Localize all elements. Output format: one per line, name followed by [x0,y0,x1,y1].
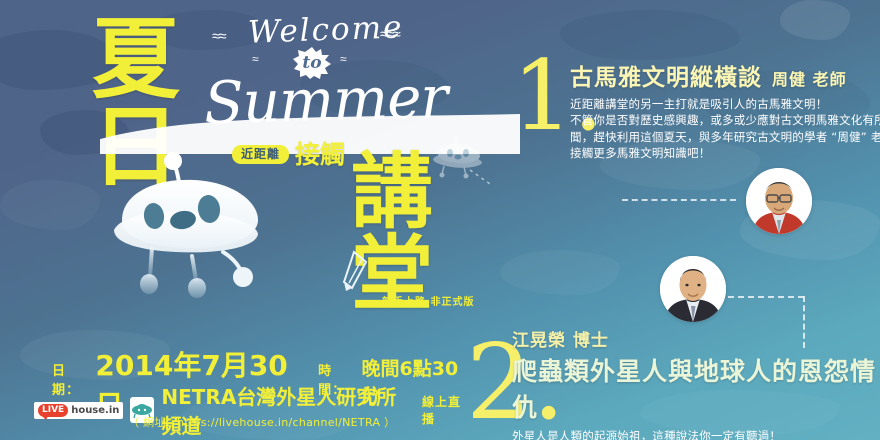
poster-right-column: 1. 2. 古馬雅文明縱橫談 周健 老師 近距離講堂的另一主打就是吸引人的古馬雅… [470,0,880,440]
version-note: 新手上路 非正式版 [382,293,474,308]
poster-canvas: 夏日 ≈≈ ≈≈≈ Welcome to ≈ ≈ Summer 近距離 接觸 [0,0,880,440]
speaker-photo-jianghuangrong[interactable] [660,256,726,322]
section-1-speaker: 周健 老師 [772,66,847,90]
section-1: 古馬雅文明縱橫談 周健 老師 近距離講堂的另一主打就是吸引人的古馬雅文明！ 不管… [570,58,878,161]
poster-left-column: 夏日 ≈≈ ≈≈≈ Welcome to ≈ ≈ Summer 近距離 接觸 [0,0,500,440]
speaker-photo-zhoujian[interactable] [746,168,812,234]
section-2-heading: 爬蟲類外星人與地球人的恩怨情仇 [512,352,880,424]
ufo-mascot-icon [106,148,356,323]
section-2-line: 外星人是人類的起源始祖，這種說法你一定有聽過！ [512,428,880,440]
livehouse-logo[interactable]: LIVE house.in [34,402,123,419]
section-2-title: 爬蟲類外星人與地球人的恩怨情仇 [512,352,880,424]
connector-line [728,296,804,298]
wave-icon: ≈ [340,52,345,66]
section-1-heading: 古馬雅文明縱橫談 周健 老師 [570,58,878,92]
welcome-text: Welcome [247,9,404,50]
section-2-body: 外星人是人類的起源始祖，這種說法你一定有聽過！ 更不用說你一定很好奇外星人究竟與… [512,428,880,440]
wave-icon: ≈≈ [212,28,224,45]
section-2: 江晃榮 博士 爬蟲類外星人與地球人的恩怨情仇 外星人是人類的起源始祖，這種說法你… [512,326,880,440]
section-1-line: 接觸更多馬雅文明知識吧！ [570,145,878,161]
pencil-icon [340,250,370,292]
channel-row: LIVE house.in NETRA台灣外星人研究所頻道 線上直播 [34,381,470,439]
channel-name: NETRA台灣外星人研究所頻道 [161,381,415,439]
section-1-line: 聞，趕快利用這個夏天，與多年研究古文明的學者 “周健” 老師 [570,129,878,145]
livehouse-wordmark: house.in [71,405,119,416]
section-1-body: 近距離講堂的另一主打就是吸引人的古馬雅文明！ 不管你是否對歷史感興趣，或多或少應… [570,96,878,161]
section-1-title: 古馬雅文明縱橫談 [570,58,762,92]
livehouse-live-badge: LIVE [38,404,68,417]
wave-icon: ≈ [252,52,257,66]
live-stream-tag: 線上直播 [422,393,470,427]
channel-url[interactable]: （ 網址：https://livehouse.in/channel/NETRA … [128,414,395,430]
event-info-bar: 日期： 2014年7月30日 時間： 晚間6點30分 LIVE house.in [0,336,470,440]
section-2-speaker: 江晃榮 博士 [512,326,880,351]
connector-line [622,199,736,201]
section-1-line: 近距離講堂的另一主打就是吸引人的古馬雅文明！ [570,96,878,112]
section-1-line: 不管你是否對歷史感興趣，或多或少應對古文明馬雅文化有所耳 [570,112,878,128]
